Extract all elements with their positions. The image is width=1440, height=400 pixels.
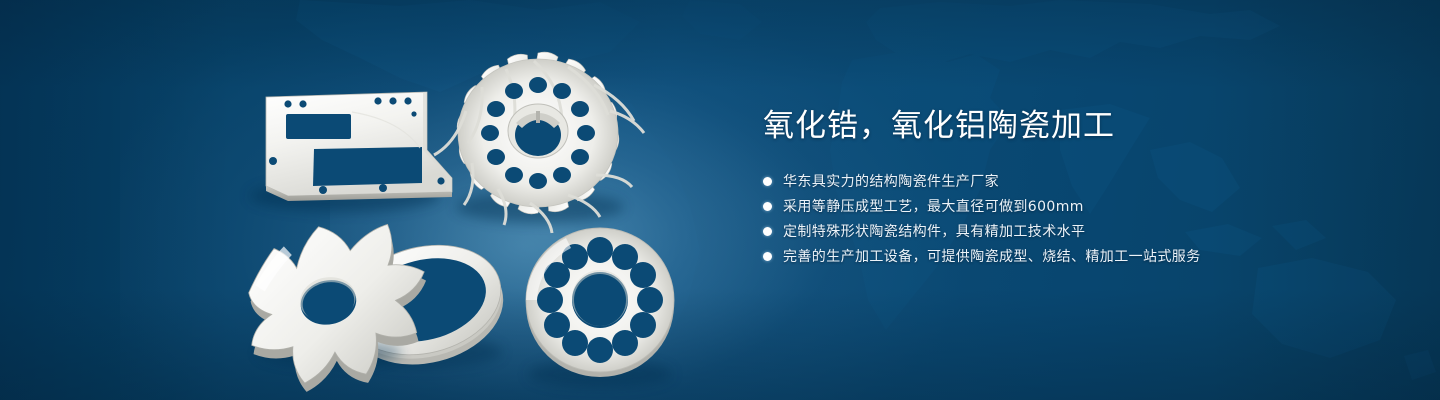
banner-text-column: 氧化锆，氧化铝陶瓷加工 华东具实力的结构陶瓷件生产厂家 采用等静压成型工艺，最大…	[763, 108, 1403, 285]
product-banner: 氧化锆，氧化铝陶瓷加工 华东具实力的结构陶瓷件生产厂家 采用等静压成型工艺，最大…	[0, 0, 1440, 400]
feature-text: 完善的生产加工设备，可提供陶瓷成型、烧结、精加工一站式服务	[783, 245, 1201, 269]
bullet-dot-icon	[763, 252, 772, 261]
feature-text: 采用等静压成型工艺，最大直径可做到600mm	[783, 195, 1084, 219]
list-item: 华东具实力的结构陶瓷件生产厂家	[763, 170, 1403, 194]
bullet-dot-icon	[763, 227, 772, 236]
feature-text: 华东具实力的结构陶瓷件生产厂家	[783, 170, 999, 194]
list-item: 完善的生产加工设备，可提供陶瓷成型、烧结、精加工一站式服务	[763, 245, 1403, 269]
list-item: 定制特殊形状陶瓷结构件，具有精加工技术水平	[763, 220, 1403, 244]
bullet-dot-icon	[763, 202, 772, 211]
list-item: 采用等静压成型工艺，最大直径可做到600mm	[763, 195, 1403, 219]
ceramic-perforated-disc	[526, 228, 674, 388]
bullet-dot-icon	[763, 177, 772, 186]
feature-list: 华东具实力的结构陶瓷件生产厂家 采用等静压成型工艺，最大直径可做到600mm 定…	[763, 170, 1403, 269]
feature-text: 定制特殊形状陶瓷结构件，具有精加工技术水平	[783, 220, 1085, 244]
product-photo-cluster	[0, 0, 740, 400]
page-title: 氧化锆，氧化铝陶瓷加工	[763, 108, 1403, 146]
ceramic-impeller-vaned	[434, 51, 644, 233]
ceramic-plate-machined	[250, 92, 452, 212]
